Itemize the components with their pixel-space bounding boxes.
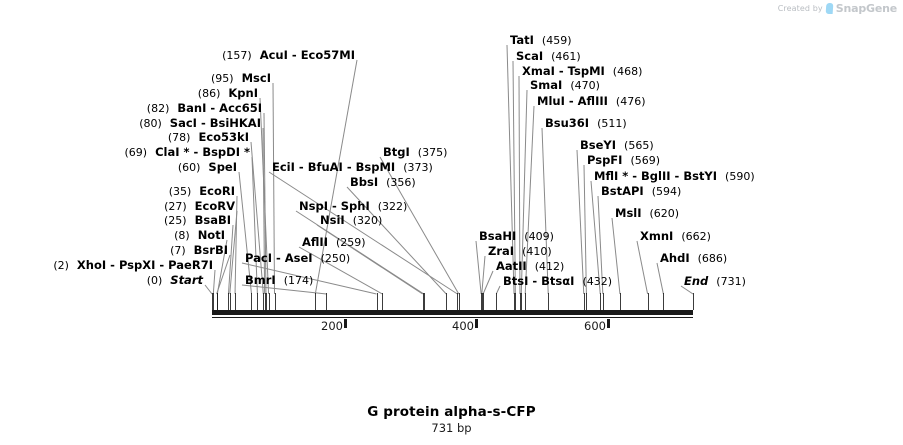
enzyme-name: Eco53kI bbox=[198, 130, 249, 144]
site-tick[interactable] bbox=[377, 293, 378, 310]
enzyme-label-eco53ki[interactable]: (78)Eco53kI bbox=[168, 131, 249, 144]
enzyme-label-xhoi[interactable]: (2)XhoI - PspXI - PaeR7I bbox=[53, 259, 213, 272]
enzyme-position: (511) bbox=[597, 117, 627, 130]
sequence-ruler: 200400600 bbox=[0, 0, 903, 445]
enzyme-label-btsi[interactable]: BtsI - BtsαI(432) bbox=[503, 275, 612, 288]
site-tick[interactable] bbox=[521, 293, 522, 310]
enzyme-label-mfli[interactable]: MflI * - BglII - BstYI(590) bbox=[594, 170, 755, 183]
enzyme-name: AcuI bbox=[260, 48, 288, 62]
enzyme-name: MscI bbox=[242, 71, 271, 85]
enzyme-name: BspMI bbox=[356, 160, 396, 174]
enzyme-label-bani[interactable]: (82)BanI - Acc65I bbox=[147, 102, 262, 115]
enzyme-name: EcoRV bbox=[195, 199, 235, 213]
enzyme-label-ecori[interactable]: (35)EcoRI bbox=[169, 185, 235, 198]
enzyme-position: (662) bbox=[681, 230, 711, 243]
enzyme-label-bsahi[interactable]: BsaHI(409) bbox=[479, 230, 554, 243]
enzyme-name: BsiHKAI bbox=[210, 116, 261, 130]
axis-tick-label: 400 bbox=[452, 319, 474, 333]
enzyme-label-noti[interactable]: (8)NotI bbox=[174, 229, 225, 242]
enzyme-name: BmrI bbox=[245, 273, 276, 287]
enzyme-name: NspI bbox=[299, 199, 328, 213]
enzyme-position: (78) bbox=[168, 131, 191, 144]
enzyme-name: End bbox=[684, 274, 708, 288]
enzyme-position: (620) bbox=[650, 207, 680, 220]
enzyme-name: Acc65I bbox=[219, 101, 262, 115]
enzyme-position: (686) bbox=[698, 252, 728, 265]
enzyme-position: (95) bbox=[211, 72, 234, 85]
enzyme-name: BtsαI bbox=[541, 274, 574, 288]
enzyme-label-spei[interactable]: (60)SpeI bbox=[178, 161, 237, 174]
axis-tick-label: 200 bbox=[321, 319, 343, 333]
enzyme-name: AhdI bbox=[660, 251, 690, 265]
site-tick[interactable] bbox=[228, 293, 229, 310]
site-tick[interactable] bbox=[315, 293, 316, 310]
enzyme-name: BseYI bbox=[580, 138, 616, 152]
enzyme-name: TspMI bbox=[568, 64, 605, 78]
enzyme-label-bstapi[interactable]: BstAPI(594) bbox=[601, 185, 681, 198]
site-tick[interactable] bbox=[326, 293, 327, 310]
enzyme-label-ahdi[interactable]: AhdI(686) bbox=[660, 252, 727, 265]
site-tick[interactable] bbox=[446, 293, 447, 310]
enzyme-position: (0) bbox=[147, 274, 163, 287]
page-title: G protein alpha-s-CFP bbox=[0, 404, 903, 420]
enzyme-name: BtgI bbox=[383, 145, 410, 159]
enzyme-name: BanI bbox=[177, 101, 206, 115]
enzyme-position: (35) bbox=[169, 185, 192, 198]
enzyme-position: (86) bbox=[198, 87, 221, 100]
site-tick[interactable] bbox=[382, 293, 383, 310]
site-tick[interactable] bbox=[693, 293, 694, 310]
site-tick[interactable] bbox=[496, 293, 497, 310]
site-tick[interactable] bbox=[603, 293, 604, 310]
enzyme-label-msli[interactable]: MslI(620) bbox=[615, 207, 679, 220]
enzyme-position: (250) bbox=[321, 252, 351, 265]
enzyme-label-start[interactable]: (0)Start bbox=[147, 274, 203, 287]
enzyme-label-acui[interactable]: (157)AcuI - Eco57MI bbox=[222, 49, 355, 62]
site-tick[interactable] bbox=[424, 293, 425, 310]
enzyme-position: (322) bbox=[378, 200, 408, 213]
axis-tick-label: 600 bbox=[584, 319, 606, 333]
site-tick[interactable] bbox=[459, 293, 460, 310]
enzyme-name: BsaBI bbox=[195, 213, 231, 227]
enzyme-name: Eco57MI bbox=[301, 48, 355, 62]
site-tick[interactable] bbox=[584, 293, 585, 310]
enzyme-name: BstAPI bbox=[601, 184, 644, 198]
site-tick[interactable] bbox=[275, 293, 276, 310]
enzyme-position: (432) bbox=[582, 275, 612, 288]
enzyme-name: NsiI bbox=[320, 213, 345, 227]
enzyme-name: PspXI bbox=[119, 258, 155, 272]
restriction-map-canvas: Created by SnapGene 200400600 (157)AcuI … bbox=[0, 0, 903, 445]
enzyme-label-ecii[interactable]: EciI - BfuAI - BspMI(373) bbox=[272, 161, 433, 174]
enzyme-position: (2) bbox=[53, 259, 69, 272]
enzyme-name: TatI bbox=[510, 33, 534, 47]
enzyme-position: (7) bbox=[170, 244, 186, 257]
enzyme-label-xmni[interactable]: XmnI(662) bbox=[640, 230, 711, 243]
enzyme-name: BfuAI bbox=[308, 160, 343, 174]
enzyme-label-scai[interactable]: ScaI(461) bbox=[516, 50, 581, 63]
enzyme-name: MflI * bbox=[594, 169, 628, 183]
enzyme-position: (461) bbox=[551, 50, 581, 63]
site-tick[interactable] bbox=[620, 293, 621, 310]
enzyme-label-zrai[interactable]: ZraI(410) bbox=[488, 245, 552, 258]
enzyme-name: ScaI bbox=[516, 49, 543, 63]
enzyme-position: (82) bbox=[147, 102, 170, 115]
enzyme-name: BsaHI bbox=[479, 229, 516, 243]
enzyme-label-mlui[interactable]: MluI - AflIII(476) bbox=[537, 95, 646, 108]
enzyme-name: BspDI * bbox=[202, 145, 250, 159]
enzyme-position: (25) bbox=[164, 214, 187, 227]
enzyme-label-pspfi[interactable]: PspFI(569) bbox=[587, 154, 660, 167]
enzyme-name: AflII bbox=[302, 235, 328, 249]
enzyme-label-bsu36i[interactable]: Bsu36I(511) bbox=[545, 117, 627, 130]
enzyme-name: EcoRI bbox=[199, 184, 235, 198]
enzyme-name: SacI bbox=[170, 116, 197, 130]
enzyme-position: (412) bbox=[535, 260, 565, 273]
enzyme-name: PspFI bbox=[587, 153, 622, 167]
enzyme-position: (459) bbox=[542, 34, 572, 47]
site-tick[interactable] bbox=[263, 293, 264, 310]
axis-tick bbox=[607, 319, 610, 328]
enzyme-position: (356) bbox=[386, 176, 416, 189]
enzyme-label-kpni[interactable]: (86)KpnI bbox=[198, 87, 258, 100]
enzyme-name: KpnI bbox=[228, 86, 258, 100]
enzyme-label-tati[interactable]: TatI(459) bbox=[510, 34, 572, 47]
enzyme-position: (470) bbox=[570, 79, 600, 92]
enzyme-position: (590) bbox=[725, 170, 755, 183]
enzyme-label-btgi[interactable]: BtgI(375) bbox=[383, 146, 447, 159]
enzyme-position: (69) bbox=[124, 146, 147, 159]
enzyme-position: (174) bbox=[284, 274, 314, 287]
site-tick[interactable] bbox=[483, 293, 484, 310]
enzyme-name: MluI bbox=[537, 94, 565, 108]
site-tick[interactable] bbox=[482, 293, 483, 310]
site-tick[interactable] bbox=[481, 293, 482, 310]
enzyme-name: XmaI bbox=[522, 64, 555, 78]
enzyme-label-bseyi[interactable]: BseYI(565) bbox=[580, 139, 654, 152]
enzyme-position: (476) bbox=[616, 95, 646, 108]
enzyme-name: BtsI bbox=[503, 274, 528, 288]
enzyme-name: Bsu36I bbox=[545, 116, 589, 130]
enzyme-label-xmai[interactable]: XmaI - TspMI(468) bbox=[522, 65, 642, 78]
site-tick[interactable] bbox=[217, 293, 218, 310]
site-tick[interactable] bbox=[266, 293, 267, 310]
axis-tick bbox=[344, 319, 347, 328]
enzyme-position: (594) bbox=[652, 185, 682, 198]
enzyme-position: (565) bbox=[624, 139, 654, 152]
enzyme-label-bbsi[interactable]: BbsI(356) bbox=[350, 176, 416, 189]
enzyme-name: XhoI bbox=[77, 258, 106, 272]
enzyme-position: (60) bbox=[178, 161, 201, 174]
site-tick[interactable] bbox=[257, 293, 258, 310]
enzyme-name: SmaI bbox=[530, 78, 562, 92]
site-tick[interactable] bbox=[663, 293, 664, 310]
enzyme-name: SpeI bbox=[208, 160, 237, 174]
enzyme-name: EciI bbox=[272, 160, 295, 174]
axis-tick bbox=[475, 319, 478, 328]
enzyme-position: (373) bbox=[403, 161, 433, 174]
enzyme-label-paci[interactable]: PacI - AseI(250) bbox=[245, 252, 350, 265]
enzyme-position: (27) bbox=[164, 200, 187, 213]
site-tick[interactable] bbox=[520, 293, 521, 310]
site-tick[interactable] bbox=[548, 293, 549, 310]
site-tick[interactable] bbox=[213, 293, 214, 310]
site-tick[interactable] bbox=[457, 293, 458, 310]
enzyme-label-clai[interactable]: (69)ClaI * - BspDI * bbox=[124, 146, 250, 159]
enzyme-label-bsrbi[interactable]: (7)BsrBI bbox=[170, 244, 228, 257]
enzyme-name: AflIII bbox=[578, 94, 608, 108]
enzyme-position: (731) bbox=[716, 275, 746, 288]
sequence-length: 731 bp bbox=[0, 421, 903, 435]
enzyme-position: (80) bbox=[139, 117, 162, 130]
enzyme-position: (410) bbox=[522, 245, 552, 258]
enzyme-label-saci[interactable]: (80)SacI - BsiHKAI bbox=[139, 117, 261, 130]
enzyme-name: Start bbox=[170, 273, 203, 287]
enzyme-label-bsabi[interactable]: (25)BsaBI bbox=[164, 214, 231, 227]
enzyme-position: (468) bbox=[613, 65, 643, 78]
enzyme-name: SphI bbox=[341, 199, 370, 213]
site-tick[interactable] bbox=[230, 293, 231, 310]
site-tick[interactable] bbox=[269, 293, 270, 310]
enzyme-label-aflii[interactable]: AflII(259) bbox=[302, 236, 366, 249]
enzyme-position: (157) bbox=[222, 49, 252, 62]
enzyme-name: BbsI bbox=[350, 175, 378, 189]
enzyme-name: BsrBI bbox=[194, 243, 228, 257]
enzyme-name: ZraI bbox=[488, 244, 514, 258]
ruler-underline bbox=[212, 317, 693, 318]
enzyme-label-ecorv[interactable]: (27)EcoRV bbox=[164, 200, 235, 213]
enzyme-label-msci[interactable]: (95)MscI bbox=[211, 72, 271, 85]
ruler-bar bbox=[212, 310, 693, 315]
enzyme-label-nspi[interactable]: NspI - SphI(322) bbox=[299, 200, 407, 213]
enzyme-name: PacI bbox=[245, 251, 272, 265]
enzyme-name: BstYI bbox=[683, 169, 717, 183]
enzyme-position: (259) bbox=[336, 236, 366, 249]
enzyme-label-end[interactable]: End(731) bbox=[684, 275, 746, 288]
site-tick[interactable] bbox=[251, 293, 252, 310]
site-tick[interactable] bbox=[515, 293, 516, 310]
site-tick[interactable] bbox=[525, 293, 526, 310]
enzyme-position: (320) bbox=[353, 214, 383, 227]
enzyme-position: (409) bbox=[524, 230, 554, 243]
enzyme-name: PaeR7I bbox=[168, 258, 213, 272]
enzyme-name: NotI bbox=[198, 228, 225, 242]
enzyme-position: (8) bbox=[174, 229, 190, 242]
enzyme-name: AatII bbox=[496, 259, 527, 273]
enzyme-position: (375) bbox=[418, 146, 448, 159]
site-tick[interactable] bbox=[600, 293, 601, 310]
site-tick[interactable] bbox=[586, 293, 587, 310]
enzyme-label-aatii[interactable]: AatII(412) bbox=[496, 260, 564, 273]
enzyme-label-smai[interactable]: SmaI(470) bbox=[530, 79, 600, 92]
enzyme-name: MslI bbox=[615, 206, 642, 220]
enzyme-name: XmnI bbox=[640, 229, 673, 243]
enzyme-position: (569) bbox=[630, 154, 660, 167]
site-tick[interactable] bbox=[235, 293, 236, 310]
enzyme-name: AseI bbox=[285, 251, 313, 265]
enzyme-label-bmri[interactable]: BmrI(174) bbox=[245, 274, 313, 287]
site-tick[interactable] bbox=[648, 293, 649, 310]
enzyme-name: BglII bbox=[641, 169, 671, 183]
enzyme-name: ClaI * bbox=[155, 145, 189, 159]
enzyme-label-nsii[interactable]: NsiI(320) bbox=[320, 214, 382, 227]
site-tick[interactable] bbox=[514, 293, 515, 310]
